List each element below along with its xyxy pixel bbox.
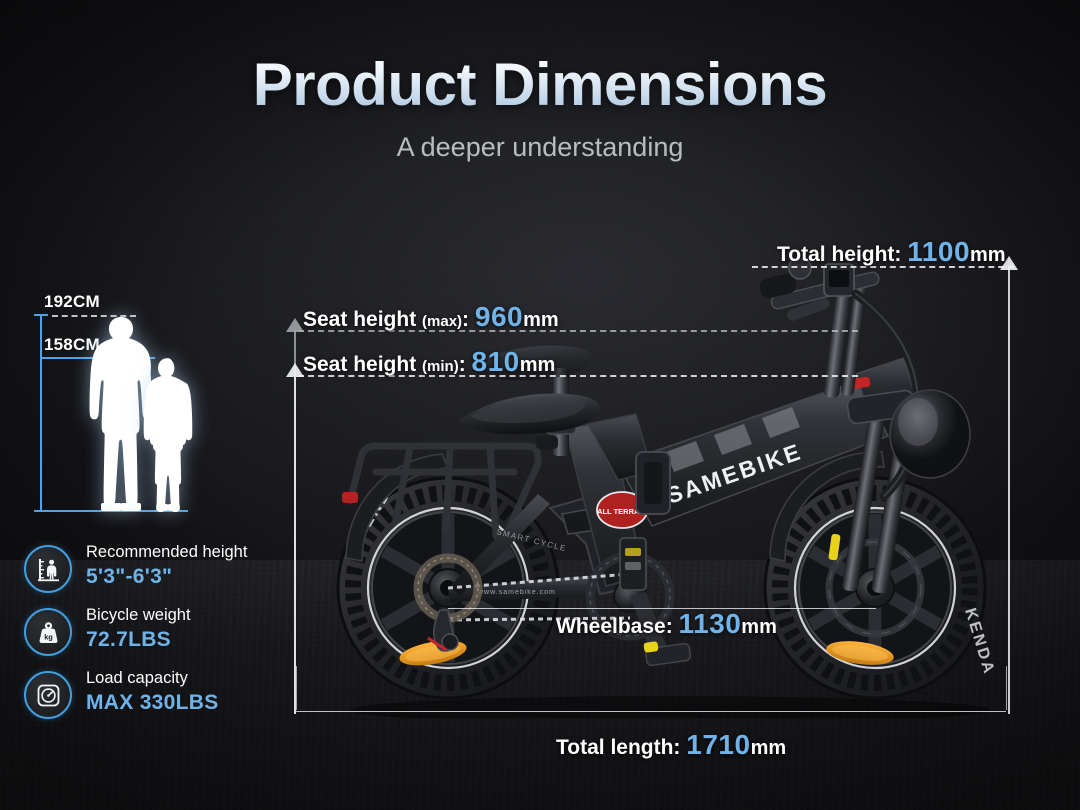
feature-badge: kg — [24, 608, 72, 656]
feature-badge — [24, 545, 72, 593]
feature-title: Recommended height — [86, 543, 247, 562]
feature-load-capacity: Load capacity MAX 330LBS — [24, 669, 294, 726]
svg-text:kg: kg — [44, 632, 53, 641]
seat-height-max-value: 960 — [475, 301, 523, 332]
seat-height-min-unit: mm — [520, 354, 556, 376]
headlight — [890, 390, 970, 478]
page-subtitle: A deeper understanding — [0, 132, 1080, 163]
woman-silhouette — [140, 356, 196, 512]
height-axis-cap-top — [34, 314, 48, 316]
total-length-tick-left — [296, 666, 297, 710]
height-comparison-group: 192CM 158CM — [30, 292, 230, 537]
total-height-unit: mm — [970, 244, 1006, 266]
feature-recommended-height: Recommended height 5'3"-6'3" — [24, 543, 294, 600]
page-title: Product Dimensions — [0, 50, 1080, 119]
total-height-line — [1008, 268, 1010, 714]
wheelbase-label: Wheelbase: 1130mm — [556, 608, 777, 640]
total-height-text: Total height: — [777, 243, 901, 266]
feature-bicycle-weight: kg Bicycle weight 72.7LBS — [24, 606, 294, 663]
seat-height-min-sub: (min) — [422, 358, 459, 375]
total-length-line — [296, 711, 1006, 712]
feature-title: Load capacity — [86, 669, 188, 688]
height-label-tall: 192CM — [44, 292, 100, 312]
infographic-canvas: Product Dimensions A deeper understandin… — [0, 0, 1080, 810]
seat-height-min-label: Seat height (min): 810mm — [303, 346, 555, 378]
feature-value: 72.7LBS — [86, 628, 171, 652]
pedal — [643, 641, 691, 666]
total-length-label: Total length: 1710mm — [556, 729, 786, 761]
wheelbase-text: Wheelbase: — [556, 615, 673, 638]
wheelbase-unit: mm — [741, 616, 777, 638]
gauge-load-icon — [35, 682, 62, 709]
seat-height-max-label: Seat height (max): 960mm — [303, 301, 559, 333]
feature-value: 5'3"-6'3" — [86, 565, 172, 589]
seat-height-min-line — [294, 375, 296, 714]
total-length-text: Total length: — [556, 736, 680, 759]
total-length-value: 1710 — [686, 729, 750, 760]
total-height-value: 1100 — [907, 236, 970, 267]
height-axis-line — [40, 315, 42, 512]
feature-title: Bicycle weight — [86, 606, 191, 625]
seat-height-min-text: Seat height — [303, 353, 416, 376]
feature-badge — [24, 671, 72, 719]
seat-height-min-value: 810 — [472, 346, 520, 377]
feature-list: Recommended height 5'3"-6'3" kg Bicycle … — [24, 543, 294, 732]
seat-height-max-sub: (max) — [422, 313, 462, 330]
svg-text:www.samebike.com: www.samebike.com — [477, 589, 556, 596]
wheelbase-value: 1130 — [679, 608, 742, 639]
total-height-label: Total height: 1100mm — [777, 236, 1006, 268]
weight-kg-icon: kg — [35, 619, 62, 646]
total-length-tick-right — [1006, 666, 1007, 710]
seat-height-max-unit: mm — [523, 309, 559, 331]
seat-height-max-text: Seat height — [303, 308, 416, 331]
feature-value: MAX 330LBS — [86, 691, 219, 715]
total-length-unit: mm — [751, 737, 787, 759]
person-height-ruler-icon — [35, 556, 62, 583]
rack-taillight — [342, 492, 358, 503]
